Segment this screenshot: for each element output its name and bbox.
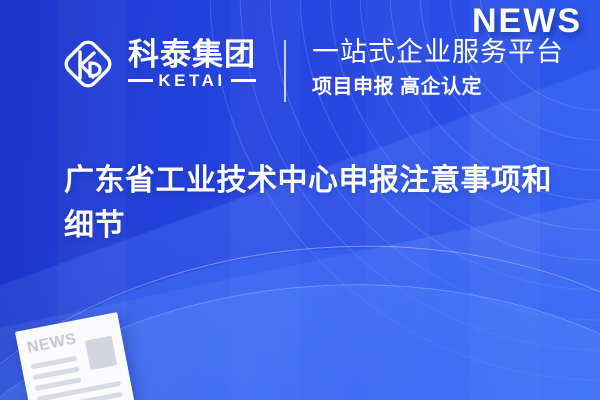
brand-logo: 科泰集团 KETAI (60, 36, 256, 92)
slogan-main: 一站式企业服务平台 (312, 38, 564, 68)
banner-header: 科泰集团 KETAI 一站式企业服务平台 项目申报 高企认定 (60, 36, 564, 102)
news-banner: NEWS 科泰集团 KETAI (0, 0, 600, 400)
slogan-sub: 项目申报 高企认定 (312, 76, 564, 98)
brand-wordmark: 科泰集团 KETAI (128, 39, 256, 89)
slogan-block: 一站式企业服务平台 项目申报 高企认定 (312, 36, 564, 98)
page-title: 广东省工业技术中心申报注意事项和细节 (64, 158, 556, 248)
brand-dash-left-icon (128, 79, 153, 82)
newspaper-illustration: NEWS (15, 312, 135, 400)
newspaper-thumbnail-block (85, 336, 117, 371)
brand-name-en-row: KETAI (128, 72, 256, 89)
brand-name-cn: 科泰集团 (128, 39, 256, 70)
brand-dash-right-icon (231, 79, 256, 82)
header-divider (284, 40, 286, 102)
brand-name-en: KETAI (158, 72, 225, 89)
ketai-diamond-k-logo-icon (60, 36, 116, 92)
